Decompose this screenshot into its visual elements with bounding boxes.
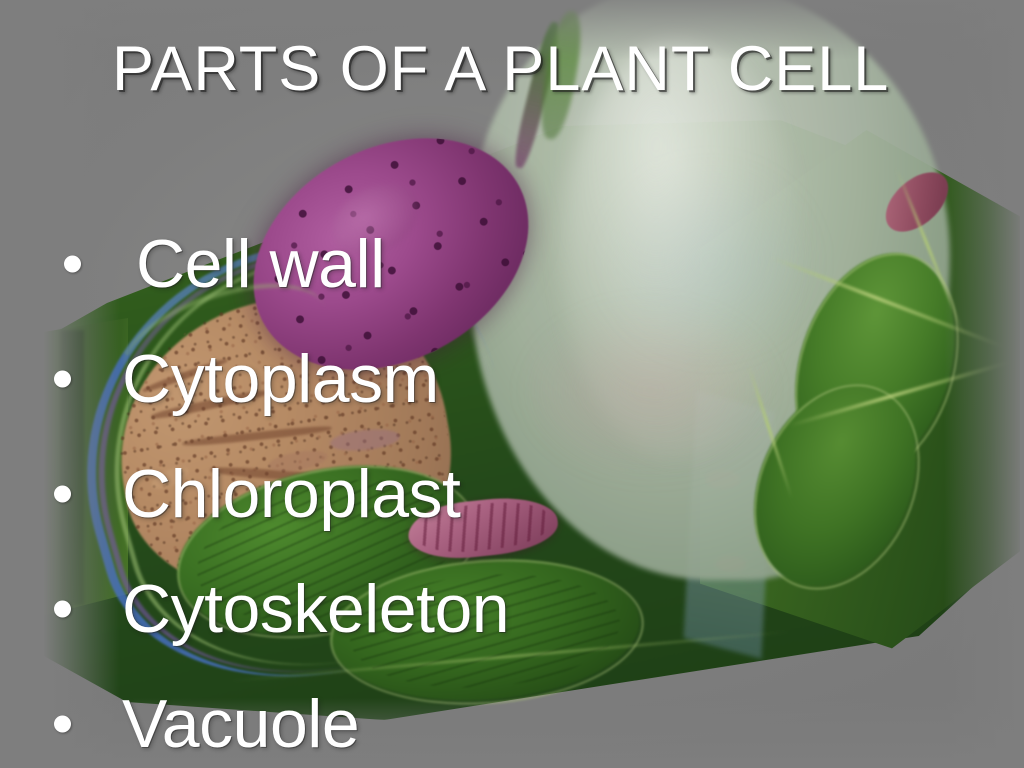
bullet-dot-icon: [54, 715, 71, 732]
slide-content: PARTS OF A PLANT CELL Cell wall Cytoplas…: [0, 0, 1024, 768]
list-item-vacuole: Vacuole: [36, 666, 976, 768]
list-item-label: Cell wall: [136, 230, 385, 298]
bullet-dot-icon: [54, 600, 71, 617]
page-title: PARTS OF A PLANT CELL: [112, 36, 889, 102]
list-item-cytoskeleton: Cytoskeleton: [36, 551, 976, 666]
list-item-label: Vacuole: [122, 690, 359, 758]
list-item-cytoplasm: Cytoplasm: [36, 321, 976, 436]
bullet-dot-icon: [54, 370, 71, 387]
bullet-dot-icon: [64, 255, 81, 272]
list-item-label: Cytoplasm: [122, 345, 439, 413]
bullet-dot-icon: [54, 485, 71, 502]
list-item-cell-wall: Cell wall: [36, 206, 976, 321]
list-item-chloroplast: Chloroplast: [36, 436, 976, 551]
list-item-label: Chloroplast: [122, 460, 460, 528]
parts-bullet-list: Cell wall Cytoplasm Chloroplast Cytoskel…: [36, 206, 976, 768]
list-item-label: Cytoskeleton: [122, 575, 509, 643]
slide-canvas: PARTS OF A PLANT CELL Cell wall Cytoplas…: [0, 0, 1024, 768]
